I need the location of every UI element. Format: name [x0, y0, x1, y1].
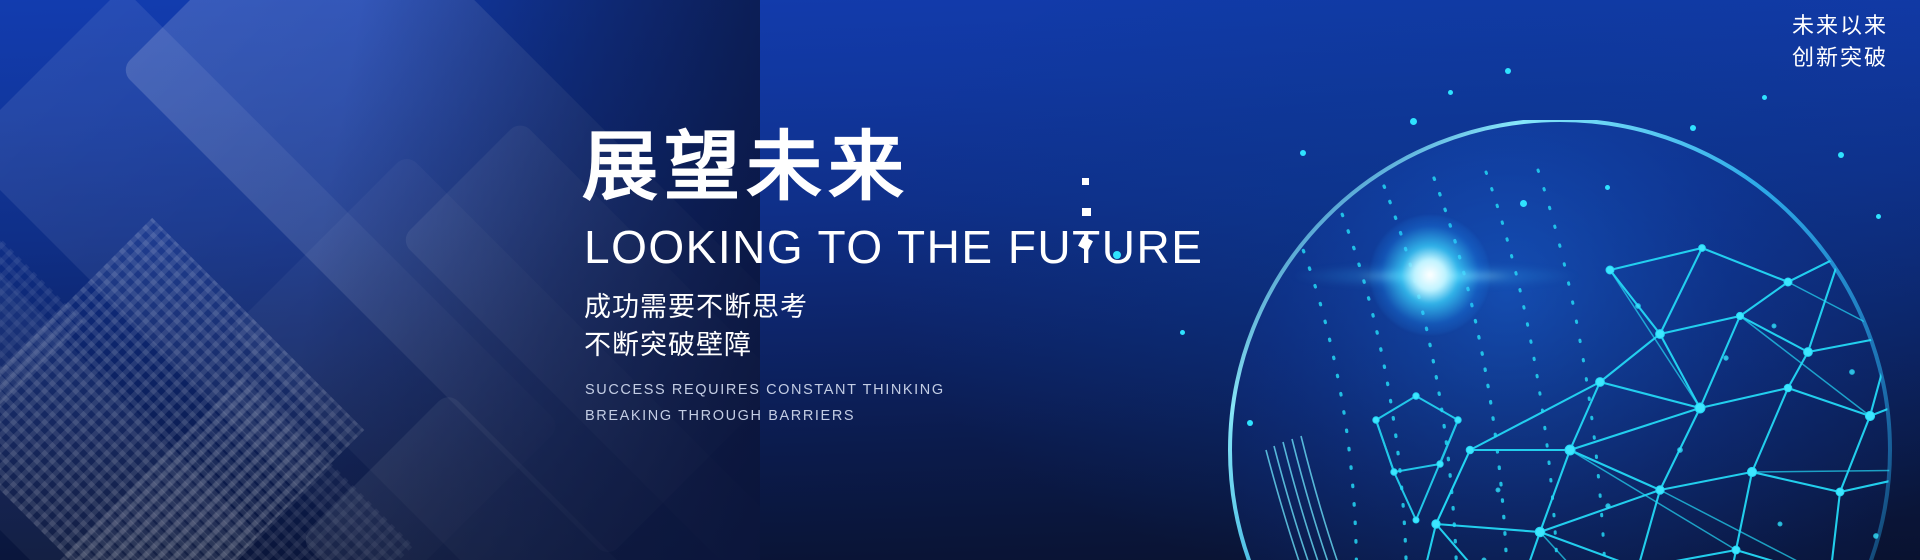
corner-slogan: 未来以来 创新突破	[1792, 10, 1888, 74]
tagline-en-line-1: SUCCESS REQUIRES CONSTANT THINKING	[585, 378, 1342, 403]
tagline-cn-line-2: 不断突破壁障	[584, 326, 1342, 364]
banner-root: 展望未来 LOOKING TO THE FUTURE 成功需要不断思考 不断突破…	[0, 0, 1920, 560]
page-subtitle: LOOKING TO THE FUTURE	[584, 220, 1342, 274]
corner-slogan-line-2: 创新突破	[1792, 42, 1888, 74]
page-title: 展望未来	[582, 128, 1342, 208]
corner-slogan-line-1: 未来以来	[1792, 10, 1888, 42]
headline-block: 展望未来 LOOKING TO THE FUTURE 成功需要不断思考 不断突破…	[582, 128, 1342, 429]
tagline-en-line-2: BREAKING THROUGH BARRIERS	[585, 404, 1342, 429]
tagline-cn-line-1: 成功需要不断思考	[584, 288, 1342, 326]
globe-light-glow	[1370, 215, 1490, 335]
